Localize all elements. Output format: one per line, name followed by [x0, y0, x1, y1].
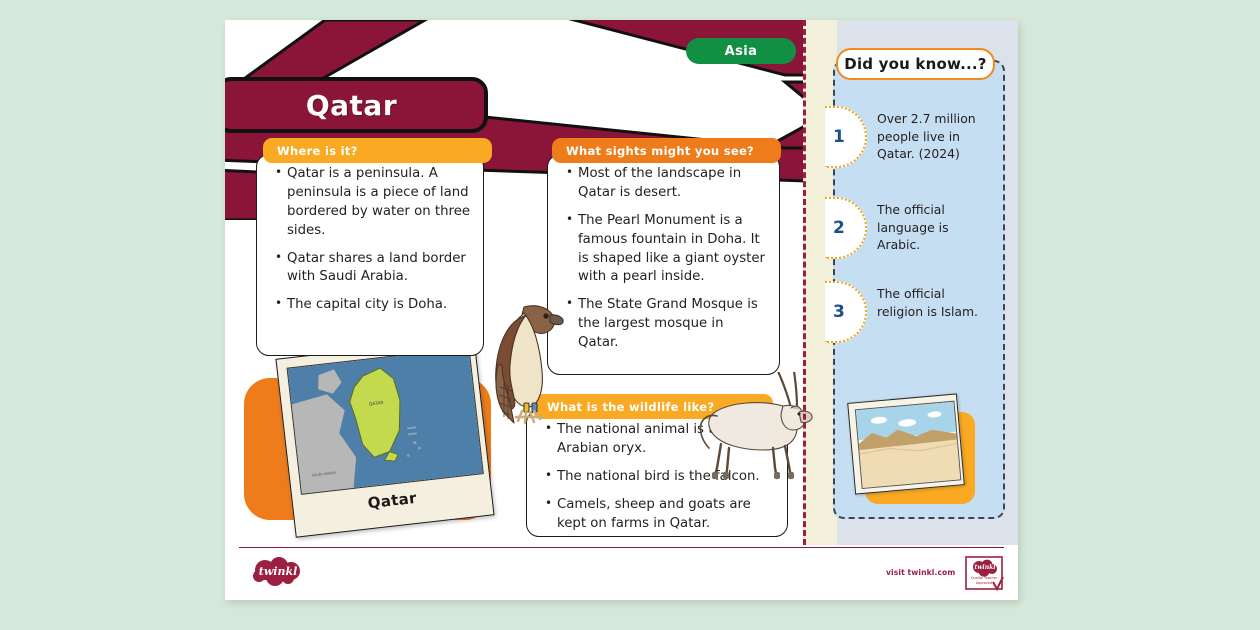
bullet-item: The capital city is Doha. — [275, 296, 471, 315]
bullet-item: Qatar shares a land border with Saudi Ar… — [275, 250, 471, 288]
fact-item-2: 2 The official language is Arabic. — [825, 197, 990, 263]
visit-twinkl-link[interactable]: visit twinkl.com — [886, 568, 955, 577]
falcon-illustration — [480, 295, 570, 430]
fact-number: 3 — [833, 302, 845, 322]
stamp-subtitle-2: Approved — [976, 581, 992, 585]
did-you-know-title: Did you know...? — [844, 55, 986, 73]
sidebar-divider-dashed — [803, 20, 806, 545]
fact-number-badge: 1 — [825, 106, 867, 168]
section-heading-where: Where is it? — [263, 138, 492, 163]
fact-item-3: 3 The official religion is Islam. — [825, 281, 990, 347]
stamp-subtitle-1: Quality Teacher — [971, 576, 998, 580]
fact-item-1: 1 Over 2.7 million people live in Qatar.… — [825, 106, 990, 172]
fact-number-badge: 3 — [825, 281, 867, 343]
desert-landscape-image — [855, 401, 962, 489]
twinkl-logo-text: twinkl — [259, 565, 298, 578]
did-you-know-title-pill: Did you know...? — [836, 48, 995, 80]
map-photo-frame: QATAR SAUDI ARABIA Qatar — [275, 336, 494, 537]
twinkl-logo: twinkl — [251, 557, 307, 587]
bullet-item: The Pearl Monument is a famous fountain … — [566, 212, 767, 288]
arabian-oryx-illustration — [687, 372, 822, 482]
fact-number-badge: 2 — [825, 197, 867, 259]
desert-photo-frame — [847, 393, 965, 494]
section-heading-sights: What sights might you see? — [552, 138, 781, 163]
bullet-item: Camels, sheep and goats are kept on farm… — [545, 496, 775, 534]
page-title: Qatar — [306, 89, 397, 122]
fact-text: Over 2.7 million people live in Qatar. (… — [877, 110, 985, 163]
map-of-qatar-image: QATAR SAUDI ARABIA — [287, 347, 484, 495]
section-heading-where-label: Where is it? — [277, 144, 358, 158]
fact-number: 2 — [833, 218, 845, 238]
worksheet-page: Asia Qatar Where is it? Qatar is a penin… — [225, 20, 1018, 600]
fact-text: The official language is Arabic. — [877, 201, 985, 254]
section-card-where: Qatar is a peninsula. A peninsula is a p… — [256, 154, 484, 356]
bullet-item: Most of the landscape in Qatar is desert… — [566, 165, 767, 203]
bullet-item: Qatar is a peninsula. A peninsula is a p… — [275, 165, 471, 241]
quality-approved-stamp: twinkl Quality Teacher Approved — [965, 556, 1005, 592]
region-badge-label: Asia — [725, 44, 758, 59]
section-heading-sights-label: What sights might you see? — [566, 144, 754, 158]
stamp-logo-text: twinkl — [974, 564, 996, 571]
section-card-sights: Most of the landscape in Qatar is desert… — [547, 154, 780, 375]
region-badge-asia: Asia — [686, 38, 796, 64]
fact-text: The official religion is Islam. — [877, 285, 985, 320]
bullet-item: The State Grand Mosque is the largest mo… — [566, 296, 767, 353]
fact-number: 1 — [833, 127, 845, 147]
footer-divider — [239, 547, 1004, 548]
page-title-banner: Qatar — [225, 77, 488, 133]
